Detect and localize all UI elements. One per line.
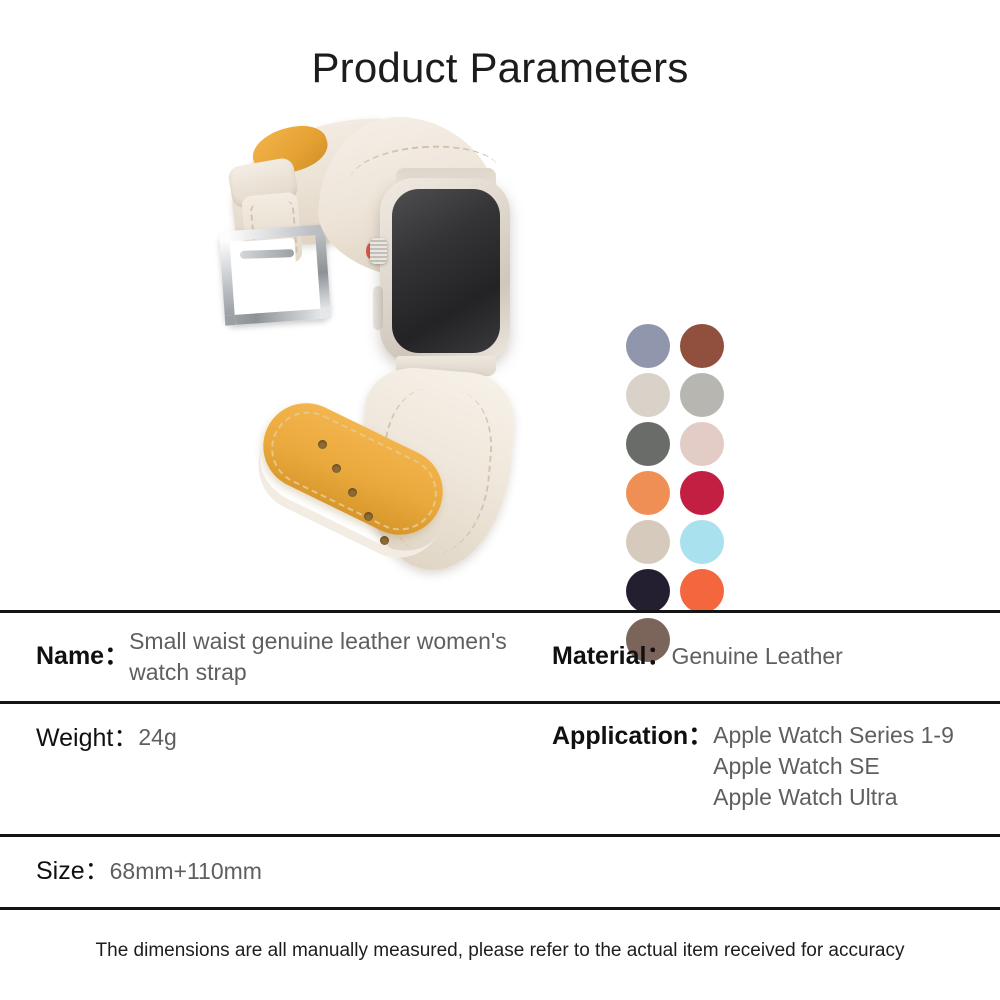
watch-strap-illustration [200, 110, 620, 600]
color-swatch-light-sky-blue[interactable] [680, 520, 724, 564]
buckle-inner [232, 238, 297, 292]
strap-hole [348, 488, 357, 497]
spec-cell-material: Material： Genuine Leather [552, 640, 1000, 674]
color-swatch-beige-taupe[interactable] [626, 520, 670, 564]
color-swatch-cool-gray[interactable] [680, 373, 724, 417]
color-swatch-crimson-red[interactable] [680, 471, 724, 515]
color-swatch-reddish-brown[interactable] [680, 324, 724, 368]
color-swatch-warm-cream[interactable] [626, 373, 670, 417]
weight-label: Weight： [36, 722, 138, 756]
spec-table: Name： Small waist genuine leather women'… [0, 610, 1000, 910]
table-row-weight-application: Weight： 24g Application： Apple Watch Ser… [0, 704, 1000, 834]
page-title: Product Parameters [0, 44, 1000, 92]
side-button [373, 286, 383, 330]
application-value-line1: Apple Watch Series 1-9 [713, 720, 954, 751]
name-label: Name： [36, 640, 129, 674]
strap-hole [380, 536, 389, 545]
strap-hole [332, 464, 341, 473]
table-row-size: Size： 68mm+110mm [0, 837, 1000, 907]
color-swatch-dark-gray[interactable] [626, 422, 670, 466]
divider [0, 907, 1000, 910]
color-swatch-coral-orange[interactable] [680, 569, 724, 613]
spec-cell-weight: Weight： 24g [0, 704, 552, 834]
product-hero [0, 110, 1000, 600]
color-swatch-slate-blue-gray[interactable] [626, 324, 670, 368]
strap-hole [318, 440, 327, 449]
application-value-line2: Apple Watch SE [713, 751, 954, 782]
name-value: Small waist genuine leather women's watc… [129, 626, 507, 688]
color-swatch-near-black-navy[interactable] [626, 569, 670, 613]
name-value-line1: Small waist genuine leather women's [129, 626, 507, 657]
material-value: Genuine Leather [671, 641, 842, 672]
spec-cell-name: Name： Small waist genuine leather women'… [0, 626, 552, 688]
name-value-line2: watch strap [129, 657, 507, 688]
spec-cell-application: Application： Apple Watch Series 1-9 Appl… [552, 704, 1000, 834]
spec-cell-size: Size： 68mm+110mm [0, 855, 1000, 889]
weight-value: 24g [138, 722, 176, 753]
watch-screen [392, 189, 500, 353]
material-label: Material： [552, 640, 671, 674]
digital-crown [370, 238, 387, 264]
size-value: 68mm+110mm [110, 856, 262, 887]
color-swatch-salmon-orange[interactable] [626, 471, 670, 515]
footer-disclaimer: The dimensions are all manually measured… [0, 940, 1000, 962]
color-swatch-dusty-pink[interactable] [680, 422, 724, 466]
application-label: Application： [552, 720, 713, 754]
application-value-line3: Apple Watch Ultra [713, 782, 954, 813]
strap-hole [364, 512, 373, 521]
application-value: Apple Watch Series 1-9 Apple Watch SE Ap… [713, 720, 954, 813]
table-row-name-material: Name： Small waist genuine leather women'… [0, 613, 1000, 701]
size-label: Size： [36, 855, 110, 889]
product-parameters-page: Product Parameters [0, 0, 1000, 1000]
